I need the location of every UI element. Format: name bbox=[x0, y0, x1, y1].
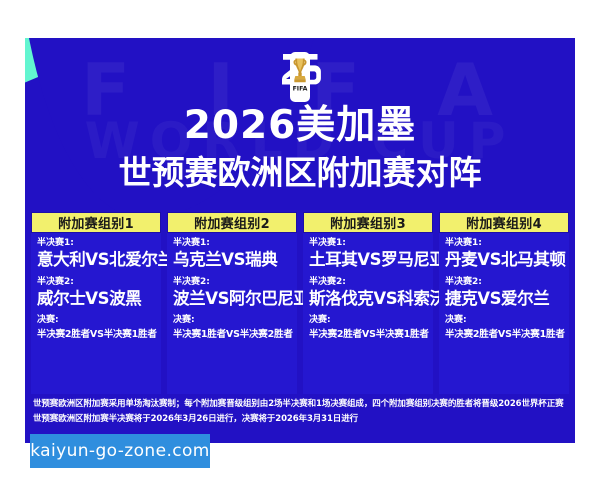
group-body-3: 半决赛1: 土耳其VS罗马尼亚 半决赛2: 斯洛伐克VS科索沃 决赛: 半决赛2… bbox=[303, 233, 433, 394]
playoff-group-2: 附加赛组别2 半决赛1: 乌克兰VS瑞典 半决赛2: 波兰VS阿尔巴尼亚 决赛:… bbox=[167, 212, 297, 394]
footnote-format: 世预赛欧洲区附加赛采用单场淘汰赛制；每个附加赛晋级组别由2场半决赛和1场决赛组成… bbox=[33, 400, 569, 409]
playoff-group-3: 附加赛组别3 半决赛1: 土耳其VS罗马尼亚 半决赛2: 斯洛伐克VS科索沃 决… bbox=[303, 212, 433, 394]
tournament-poster: F I F A WORLD CUP FIFA 2026美加墨 世预赛欧洲区附加赛… bbox=[25, 38, 575, 443]
final-matchup: 半决赛2胜者VS半决赛1胜者 bbox=[37, 330, 155, 340]
semifinal-1-matchup: 土耳其VS罗马尼亚 bbox=[309, 252, 427, 269]
semifinal-1-label: 半决赛1: bbox=[37, 239, 155, 248]
semifinal-1-label: 半决赛1: bbox=[309, 239, 427, 248]
semifinal-1-matchup: 乌克兰VS瑞典 bbox=[173, 252, 291, 269]
semifinal-2-matchup: 斯洛伐克VS科索沃 bbox=[309, 291, 427, 308]
semifinal-1-matchup: 丹麦VS北马其顿 bbox=[445, 252, 563, 269]
group-header-4: 附加赛组别4 bbox=[439, 212, 569, 233]
group-body-4: 半决赛1: 丹麦VS北马其顿 半决赛2: 捷克VS爱尔兰 决赛: 半决赛2胜者V… bbox=[439, 233, 569, 394]
semifinal-2-label: 半决赛2: bbox=[37, 278, 155, 287]
group-header-1: 附加赛组别1 bbox=[31, 212, 161, 233]
final-label: 决赛: bbox=[173, 316, 291, 325]
semifinal-1-label: 半决赛1: bbox=[173, 239, 291, 248]
semifinal-1-matchup: 意大利VS北爱尔兰 bbox=[37, 252, 155, 269]
playoff-group-4: 附加赛组别4 半决赛1: 丹麦VS北马其顿 半决赛2: 捷克VS爱尔兰 决赛: … bbox=[439, 212, 569, 394]
fifa-world-cup-2026-emblem-icon: FIFA bbox=[277, 50, 323, 108]
semifinal-2-label: 半决赛2: bbox=[309, 278, 427, 287]
group-body-1: 半决赛1: 意大利VS北爱尔兰 半决赛2: 威尔士VS波黑 决赛: 半决赛2胜者… bbox=[31, 233, 161, 394]
footnote-dates: 世预赛欧洲区附加赛半决赛将于2026年3月26日进行，决赛将于2026年3月31… bbox=[33, 415, 569, 424]
playoff-groups-grid: 附加赛组别1 半决赛1: 意大利VS北爱尔兰 半决赛2: 威尔士VS波黑 决赛:… bbox=[31, 212, 569, 394]
semifinal-2-label: 半决赛2: bbox=[445, 278, 563, 287]
semifinal-2-matchup: 威尔士VS波黑 bbox=[37, 291, 155, 308]
emblem-fifa-caption: FIFA bbox=[293, 86, 308, 93]
semifinal-2-matchup: 波兰VS阿尔巴尼亚 bbox=[173, 291, 291, 308]
footnotes: 世预赛欧洲区附加赛采用单场淘汰赛制；每个附加赛晋级组别由2场半决赛和1场决赛组成… bbox=[33, 400, 569, 431]
group-header-2: 附加赛组别2 bbox=[167, 212, 297, 233]
final-matchup: 半决赛2胜者VS半决赛1胜者 bbox=[445, 330, 563, 340]
page-title: 2026美加墨 bbox=[25, 106, 575, 145]
semifinal-2-matchup: 捷克VS爱尔兰 bbox=[445, 291, 563, 308]
final-label: 决赛: bbox=[37, 316, 155, 325]
site-watermark: kaiyun-go-zone.com bbox=[30, 434, 210, 468]
semifinal-1-label: 半决赛1: bbox=[445, 239, 563, 248]
playoff-group-1: 附加赛组别1 半决赛1: 意大利VS北爱尔兰 半决赛2: 威尔士VS波黑 决赛:… bbox=[31, 212, 161, 394]
semifinal-2-label: 半决赛2: bbox=[173, 278, 291, 287]
group-header-3: 附加赛组别3 bbox=[303, 212, 433, 233]
watermark-text: kaiyun-go-zone.com bbox=[30, 441, 210, 461]
final-matchup: 半决赛1胜者VS半决赛2胜者 bbox=[173, 330, 291, 340]
final-label: 决赛: bbox=[309, 316, 427, 325]
page-subtitle: 世预赛欧洲区附加赛对阵 bbox=[25, 156, 575, 189]
final-matchup: 半决赛2胜者VS半决赛1胜者 bbox=[309, 330, 427, 340]
final-label: 决赛: bbox=[445, 316, 563, 325]
group-body-2: 半决赛1: 乌克兰VS瑞典 半决赛2: 波兰VS阿尔巴尼亚 决赛: 半决赛1胜者… bbox=[167, 233, 297, 394]
